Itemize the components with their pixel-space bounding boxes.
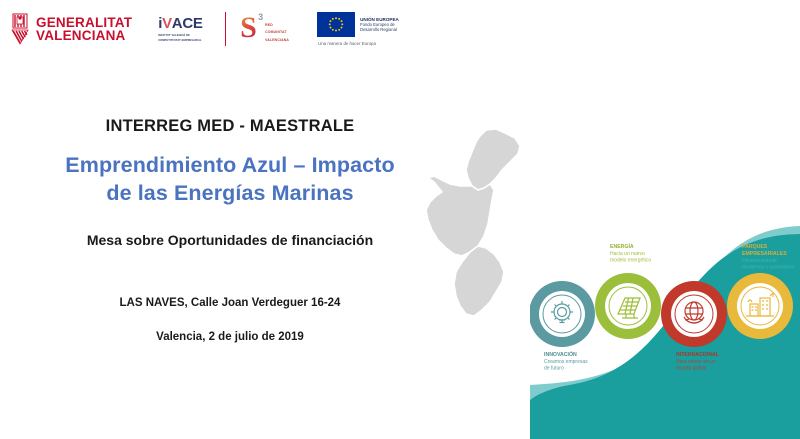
generalitat-shield-icon <box>10 13 30 45</box>
session-subtitle: Mesa sobre Oportunidades de financiación <box>0 230 460 250</box>
s3-wordmark: RED COMUNITAT VALENCIANA <box>265 23 289 45</box>
s3-line1: RED <box>265 23 289 27</box>
ivace-subtitle-line2: COMPETITIVITAT EMPRESARIAL <box>158 39 201 42</box>
slide-text-block: INTERREG MED - MAESTRALE Emprendimiento … <box>0 115 460 346</box>
pillar-innovacion-desc-2: de futuro <box>544 366 564 372</box>
pillar-energia-desc-1: Hacia un nuevo <box>610 251 645 257</box>
logo-bar: GENERALITAT VALENCIANA iVACE INSTITUT VA… <box>10 8 399 50</box>
s3-red-comunitat-valenciana-logo: S 3 RED COMUNITAT VALENCIANA <box>240 13 289 45</box>
s3-superscript: 3 <box>258 12 263 22</box>
page-title-line2: de las Energías Marinas <box>0 179 460 207</box>
eu-line2: Desarrollo Regional <box>360 27 399 32</box>
pillar-innovacion-label: INNOVACIÓN <box>544 350 577 358</box>
pillar-energia-label: ENERGÍA <box>610 242 634 250</box>
pillar-parques-desc-2: modernas y sostenibles <box>742 265 795 271</box>
pillar-internacional-label: INTERNACIONAL <box>676 352 720 358</box>
pillar-internacional <box>661 281 727 347</box>
date-text: Valencia, 2 de julio de 2019 <box>0 328 460 346</box>
pillar-parques-empresariales <box>727 273 793 339</box>
ivace-pillars-graphic: INNOVACIÓN Creamos empresas de futuro EN… <box>530 224 800 439</box>
ivace-subtitle-line1: INSTITUT VALENCIÀ DE <box>158 34 190 37</box>
generalitat-line2: VALENCIANA <box>36 29 132 43</box>
pillar-parques-desc-1: Infraestructuras <box>742 258 777 264</box>
pillar-internacional-desc-1: Para crecer en un <box>676 359 716 365</box>
pillar-parques-label-2: EMPRESARIALES <box>742 251 787 257</box>
eu-flag-row: UNIÓN EUROPEA Fondo Europeo de Desarroll… <box>317 12 399 37</box>
ivace-letters-ace: ACE <box>172 16 203 32</box>
logo-divider <box>225 12 227 46</box>
generalitat-wordmark: GENERALITAT VALENCIANA <box>36 16 132 43</box>
pillar-energia <box>595 273 661 339</box>
union-europea-feder-logo: UNIÓN EUROPEA Fondo Europeo de Desarroll… <box>317 12 399 46</box>
s3-line2: COMUNITAT <box>265 30 289 34</box>
pillar-innovacion <box>530 281 595 347</box>
s3-mark-icon: S 3 <box>240 13 262 45</box>
generalitat-line1: GENERALITAT <box>36 16 132 30</box>
presentation-slide: GENERALITAT VALENCIANA iVACE INSTITUT VA… <box>0 0 800 439</box>
generalitat-valenciana-logo: GENERALITAT VALENCIANA <box>10 13 132 45</box>
project-eyebrow: INTERREG MED - MAESTRALE <box>0 115 460 137</box>
eu-tagline: Una manera de hacer Europa <box>318 41 399 46</box>
s3-letter-s: S <box>240 11 257 44</box>
ivace-letter-v: V <box>162 16 172 32</box>
pillar-internacional-desc-2: mundo global <box>676 366 706 372</box>
eu-flag-icon <box>317 12 355 37</box>
eu-text-block: UNIÓN EUROPEA Fondo Europeo de Desarroll… <box>360 17 399 33</box>
ivace-wordmark: iVACE <box>158 16 202 32</box>
pillar-innovacion-desc-1: Creamos empresas <box>544 359 588 365</box>
ivace-logo: iVACE INSTITUT VALENCIÀ DE COMPETITIVITA… <box>158 16 202 42</box>
pillar-energia-desc-2: modelo energético <box>610 258 651 264</box>
pillar-parques-label-1: PARQUES <box>742 244 768 250</box>
page-title-line1: Emprendimiento Azul – Impacto <box>0 151 460 179</box>
page-title: Emprendimiento Azul – Impacto de las Ene… <box>0 151 460 207</box>
s3-line3: VALENCIANA <box>265 38 289 42</box>
venue-text: LAS NAVES, Calle Joan Verdeguer 16-24 <box>0 294 460 312</box>
